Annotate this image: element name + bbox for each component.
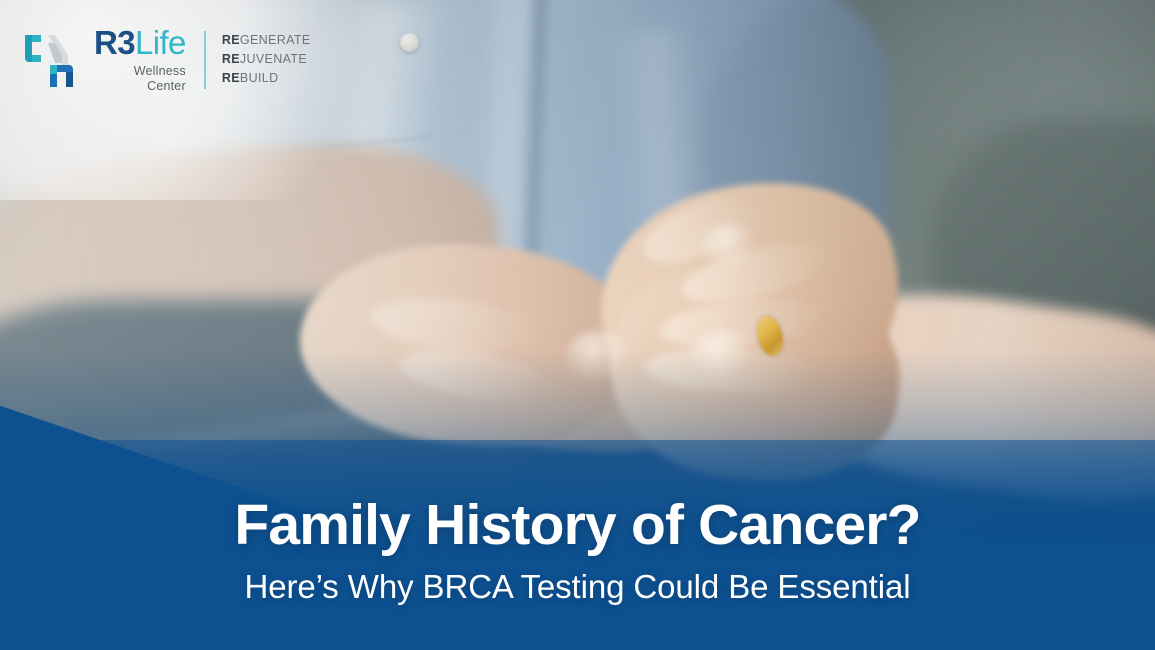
- tagline-prefix: RE: [222, 71, 240, 85]
- brand-logo[interactable]: R3Life Wellness Center REGENERATE REJUVE…: [22, 26, 311, 94]
- logo-name: R3Life: [94, 26, 186, 59]
- tagline-prefix: RE: [222, 33, 240, 47]
- logo-divider: [204, 31, 206, 89]
- page-title: Family History of Cancer?: [40, 496, 1115, 555]
- logo-subtitle-line-1: Wellness: [94, 64, 186, 79]
- tagline-item-regenerate: REGENERATE: [222, 33, 311, 49]
- blog-hero-banner: R3Life Wellness Center REGENERATE REJUVE…: [0, 0, 1155, 650]
- page-subtitle: Here’s Why BRCA Testing Could Be Essenti…: [40, 569, 1115, 606]
- logo-wordmark: R3Life Wellness Center: [94, 26, 186, 94]
- logo-subtitle-line-2: Center: [94, 79, 186, 94]
- tagline-item-rebuild: REBUILD: [222, 71, 311, 87]
- headline-block: Family History of Cancer? Here’s Why BRC…: [0, 496, 1155, 606]
- logo-name-life: Life: [135, 24, 186, 61]
- logo-subtitle: Wellness Center: [94, 64, 186, 94]
- logo-tagline: REGENERATE REJUVENATE REBUILD: [222, 33, 311, 86]
- tagline-rest: GENERATE: [240, 33, 311, 47]
- r3life-logo-mark-icon: [22, 29, 80, 91]
- tagline-rest: JUVENATE: [240, 52, 307, 66]
- tagline-rest: BUILD: [240, 71, 279, 85]
- logo-name-r3: R3: [94, 24, 135, 61]
- tagline-prefix: RE: [222, 52, 240, 66]
- tagline-item-rejuvenate: REJUVENATE: [222, 52, 311, 68]
